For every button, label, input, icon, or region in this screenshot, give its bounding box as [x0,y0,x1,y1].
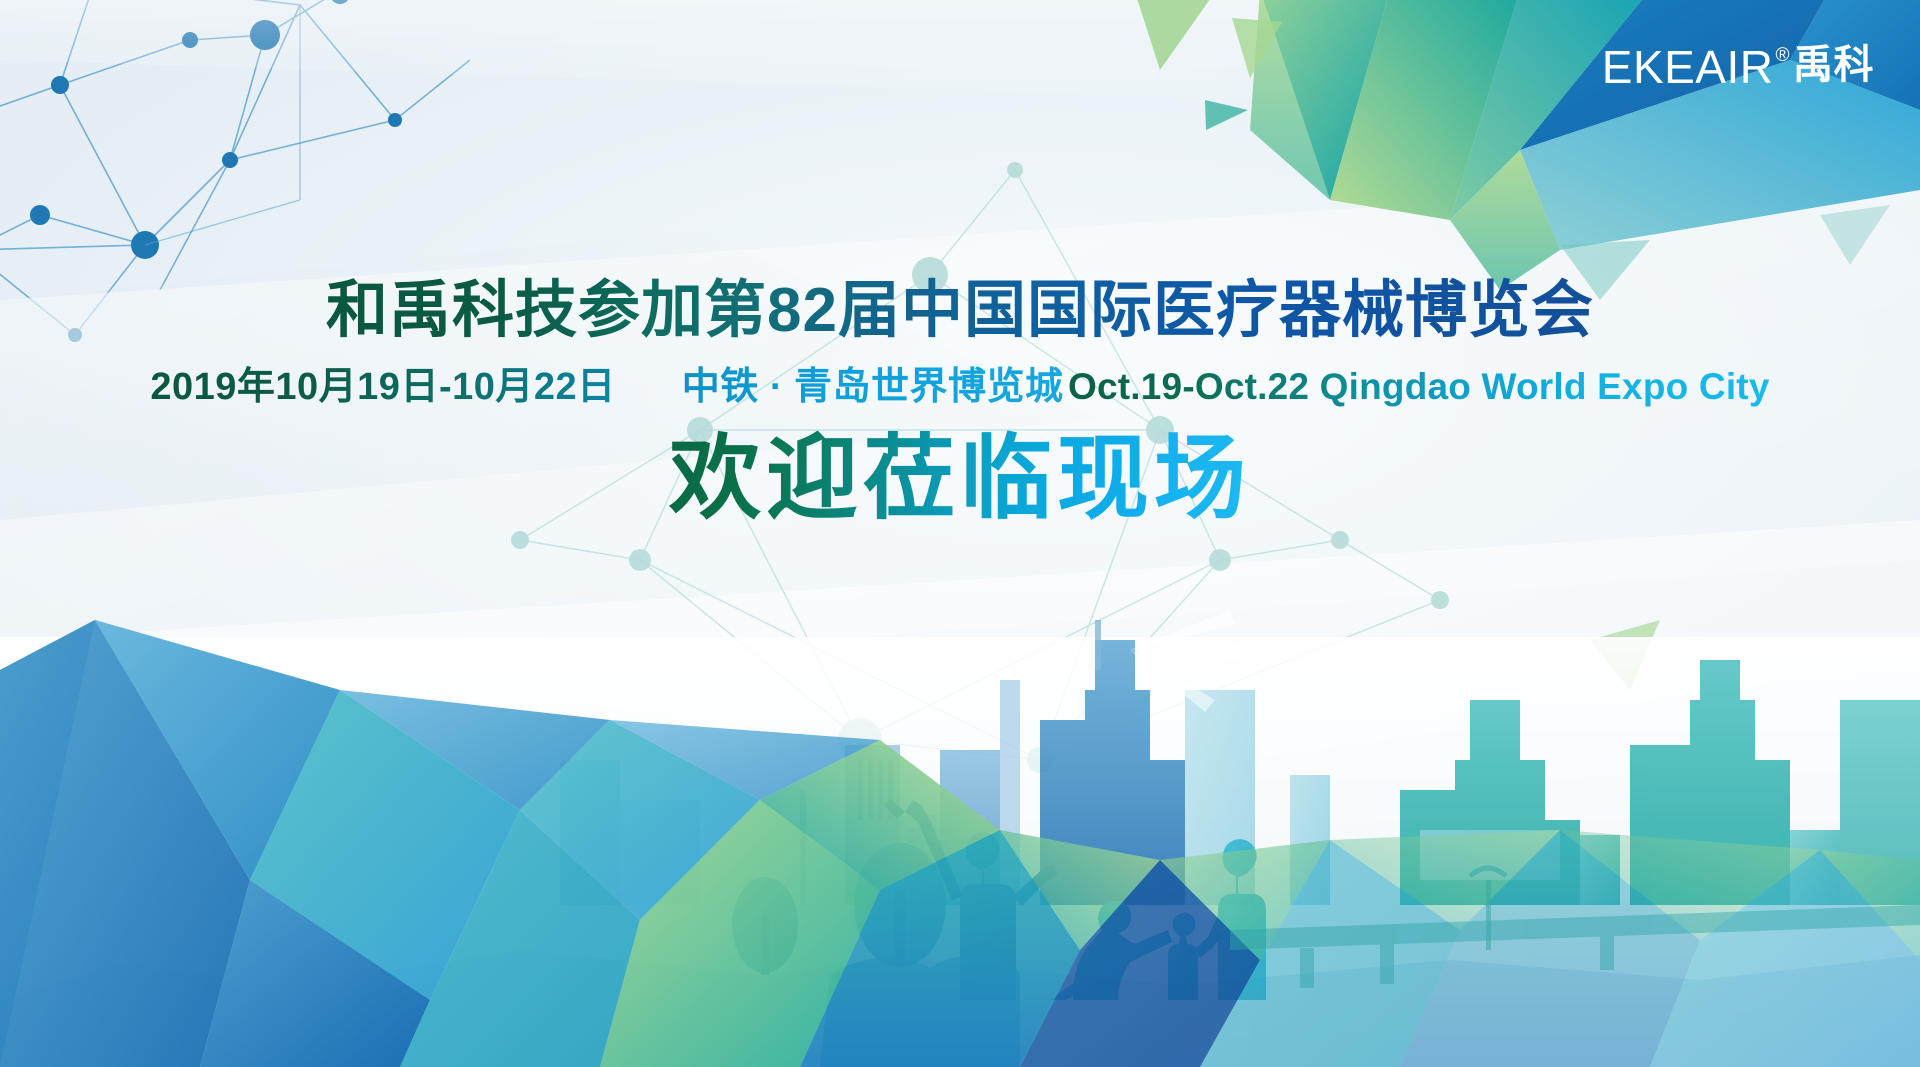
event-date-venue-en: Oct.19-Oct.22 Qingdao World Expo City [1068,365,1770,409]
event-date-cn: 2019年10月19日-10月22日 [150,366,615,408]
low-poly-foreground [0,620,1920,1067]
brand-logo: EKEAIR ® 禹科 [1602,44,1874,90]
banner-canvas: EKEAIR ® 禹科 和禹科技参加第82届中国国际医疗器械博览会 2019年1… [0,0,1920,1067]
registered-trademark-icon: ® [1776,46,1791,65]
event-date-venue-line: 2019年10月19日-10月22日 中铁 · 青岛世界博览城 [150,365,1063,411]
banner-text-block: 和禹科技参加第82届中国国际医疗器械博览会 2019年10月19日-10月22日… [0,276,1920,534]
event-venue-cn: 中铁 · 青岛世界博览城 [682,366,1064,408]
page-title: 和禹科技参加第82届中国国际医疗器械博览会 [326,276,1594,345]
welcome-callout: 欢迎莅临现场 [669,425,1251,534]
brand-logo-chinese: 禹科 [1793,44,1874,86]
brand-logo-text: EKEAIR [1602,44,1774,90]
